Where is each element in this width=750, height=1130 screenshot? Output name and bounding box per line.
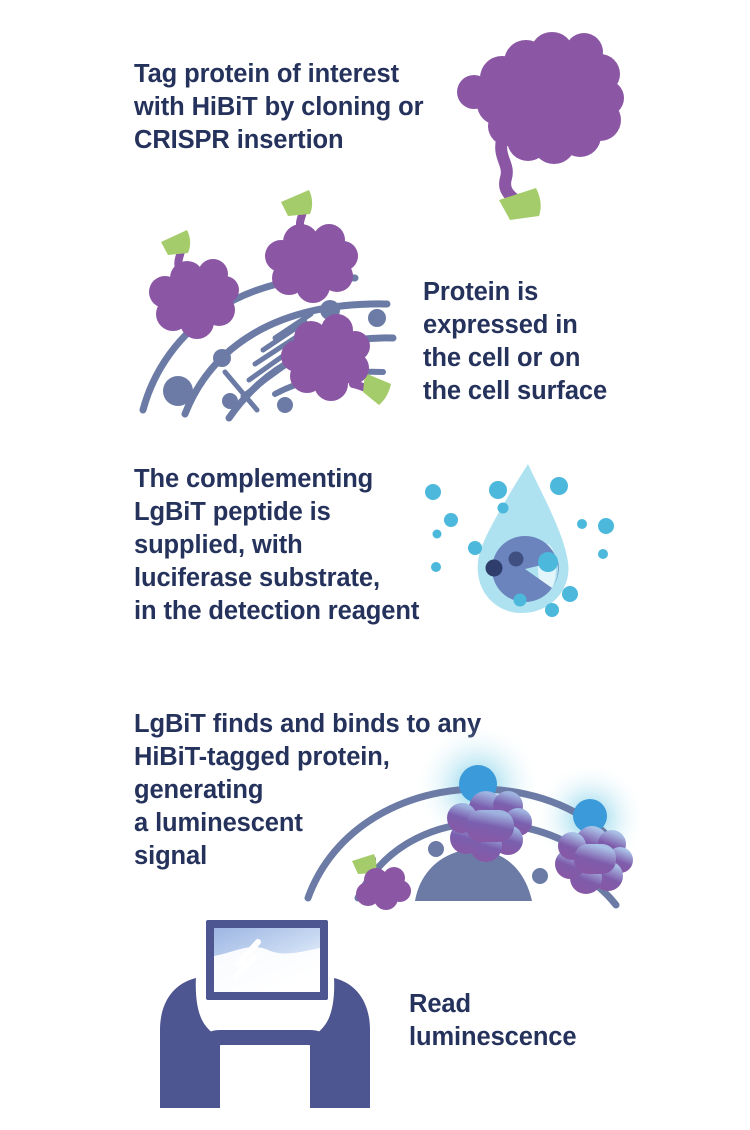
tagged-protein-illustration (440, 22, 640, 232)
purple-protein-blob (457, 32, 624, 164)
luminometer-illustration (140, 908, 390, 1108)
step-2-text: Protein is expressed in the cell or on t… (423, 276, 607, 408)
step-2-line-2: expressed in (423, 309, 607, 342)
tagged-protein-top (265, 190, 358, 303)
tagged-protein-svg (440, 22, 640, 232)
step-1-line-3: CRISPR insertion (134, 124, 423, 157)
step-3-line-1: The complementing (134, 463, 419, 496)
step-1-text: Tag protein of interest with HiBiT by cl… (134, 58, 423, 157)
detection-reagent-droplet-illustration (420, 458, 630, 628)
monitor-frame (206, 920, 328, 1000)
step-5-line-2: luminescence (409, 1021, 576, 1054)
cell-membrane-illustration (125, 198, 425, 423)
step-5-text: Read luminescence (409, 988, 576, 1054)
step-2-line-4: the cell surface (423, 375, 607, 408)
step-1-line-1: Tag protein of interest (134, 58, 423, 91)
step-3-line-4: luciferase substrate, (134, 562, 419, 595)
luminometer-svg (140, 908, 390, 1108)
step-2-line-3: the cell or on (423, 342, 607, 375)
step-3-line-3: supplied, with (134, 529, 419, 562)
step-4-line-1: LgBiT finds and binds to any (134, 708, 481, 741)
nucleus-dome (415, 850, 532, 901)
luminescent-binding-svg (300, 748, 640, 913)
step-3-text: The complementing LgBiT peptide is suppl… (134, 463, 419, 628)
cell-membrane-svg (125, 198, 425, 423)
luminescent-binding-illustration (300, 748, 640, 913)
step-3-line-5: in the detection reagent (134, 595, 419, 628)
reagent-droplet-svg (420, 458, 630, 628)
step-2-line-1: Protein is (423, 276, 607, 309)
step-5-line-1: Read (409, 988, 576, 1021)
hibit-workflow-infographic: Tag protein of interest with HiBiT by cl… (0, 0, 750, 1130)
step-1-line-2: with HiBiT by cloning or (134, 91, 423, 124)
tagged-protein-left (149, 230, 239, 339)
step-3-line-2: LgBiT peptide is (134, 496, 419, 529)
